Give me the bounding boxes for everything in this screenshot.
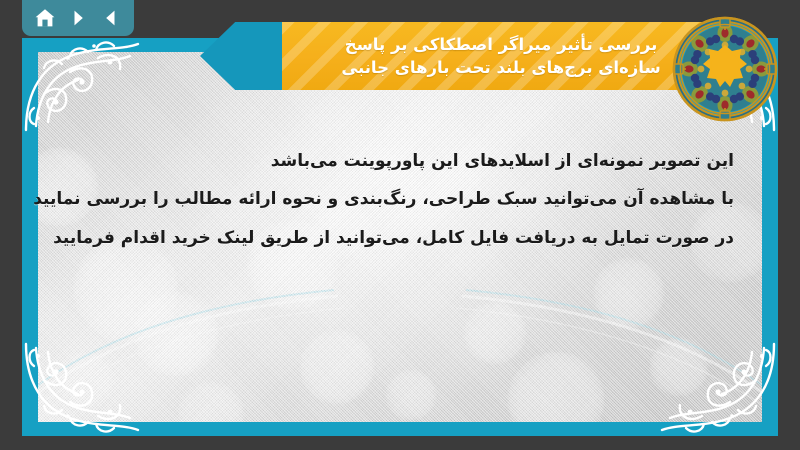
banner-body: بررسی تأثیر میراگر اصطکاکی بر پاسخ سازه‌… <box>282 22 720 90</box>
next-slide-button[interactable] <box>65 5 91 31</box>
slide-title-line: بررسی تأثیر میراگر اصطکاکی بر پاسخ <box>345 33 658 56</box>
previous-slide-button[interactable] <box>98 5 124 31</box>
slide-navigation-bar <box>22 0 134 36</box>
slide-title-banner: بررسی تأثیر میراگر اصطکاکی بر پاسخ سازه‌… <box>200 22 720 90</box>
slide-frame: این تصویر نمونه‌ای از اسلایدهای این پاور… <box>22 38 778 436</box>
body-line: این تصویر نمونه‌ای از اسلایدهای این پاور… <box>68 150 734 173</box>
slide-title-line: سازه‌ای برج‌های بلند تحت بارهای جانبی <box>341 56 660 79</box>
banner-arrow-tail <box>200 22 288 90</box>
body-line: با مشاهده آن می‌توانید سبک طراحی، رنگ‌بن… <box>68 188 734 211</box>
body-line: در صورت تمایل به دریافت فایل کامل، می‌تو… <box>68 227 734 250</box>
home-icon <box>34 7 56 29</box>
triangle-left-icon <box>101 8 121 28</box>
slide-viewer: این تصویر نمونه‌ای از اسلایدهای این پاور… <box>0 0 800 450</box>
slide-body-text: این تصویر نمونه‌ای از اسلایدهای این پاور… <box>68 150 734 250</box>
home-button[interactable] <box>32 5 58 31</box>
persian-medallion-ornament <box>672 16 778 122</box>
triangle-right-icon <box>68 8 88 28</box>
